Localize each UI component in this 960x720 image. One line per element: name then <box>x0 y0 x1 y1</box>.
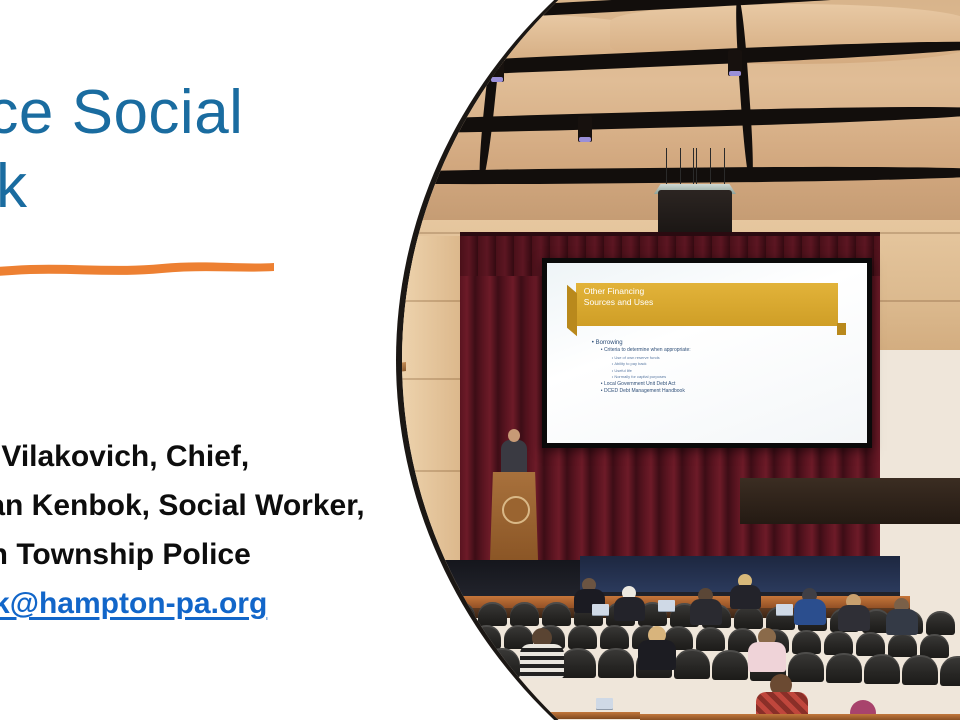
auditorium-photo: Other Financing Sources and Uses Borrowi… <box>396 0 960 720</box>
laptop <box>658 600 675 611</box>
seat-ledge <box>402 712 640 719</box>
presentation-slide: Police Social Work Thomas Vilakovich, Ch… <box>0 0 960 720</box>
stage-presenter <box>501 440 527 476</box>
projected-slide-bullets: Borrowing Criteria to determine when app… <box>592 339 829 396</box>
ceiling-downlight <box>728 50 742 76</box>
projected-slide-title: Other Financing Sources and Uses <box>584 286 808 307</box>
wall-seam <box>402 378 460 380</box>
seat-ledge <box>640 714 960 720</box>
audience-torso <box>402 692 432 720</box>
audience-torso <box>730 585 761 609</box>
audience-seating <box>402 478 960 720</box>
photo-content: Other Financing Sources and Uses Borrowi… <box>402 0 960 720</box>
email-link[interactable]: mkenbok@hampton-pa.org <box>0 579 267 628</box>
audience-torso <box>794 599 826 625</box>
laptop <box>592 604 609 615</box>
audience-torso <box>690 599 722 625</box>
projection-screen: Other Financing Sources and Uses Borrowi… <box>542 258 872 448</box>
projected-slide: Other Financing Sources and Uses Borrowi… <box>547 263 867 443</box>
slide-title-line-2: Work <box>0 150 402 224</box>
slide-title-line-1: Police Social <box>0 76 402 150</box>
slide-title: Police Social Work <box>0 76 402 224</box>
presenter-line-3: Hampton Township Police <box>0 530 438 579</box>
audience-head <box>436 588 451 603</box>
presenter-info: Thomas Vilakovich, Chief, Meghan Kenbok,… <box>0 432 438 628</box>
laptop <box>776 604 793 615</box>
audience-head <box>402 624 415 640</box>
laptop <box>440 700 457 711</box>
presenter-line-2: Meghan Kenbok, Social Worker, <box>0 481 438 530</box>
ceiling-downlight <box>578 116 592 142</box>
audience-torso <box>838 605 870 631</box>
laptop <box>462 638 479 649</box>
audience-torso <box>638 640 676 670</box>
photo-arc-clip: Other Financing Sources and Uses Borrowi… <box>402 0 960 720</box>
laptop <box>596 698 613 709</box>
orange-accent-underline <box>0 252 282 278</box>
audience-torso <box>428 600 460 626</box>
audience-torso <box>402 636 424 664</box>
audience-head <box>402 674 416 696</box>
audience-torso <box>886 609 918 635</box>
audience-torso <box>520 644 564 678</box>
presenter-line-1: Thomas Vilakovich, Chief, <box>0 432 438 481</box>
wall-seam <box>402 300 460 302</box>
audience-torso <box>614 597 645 621</box>
audience-torso <box>748 642 786 672</box>
